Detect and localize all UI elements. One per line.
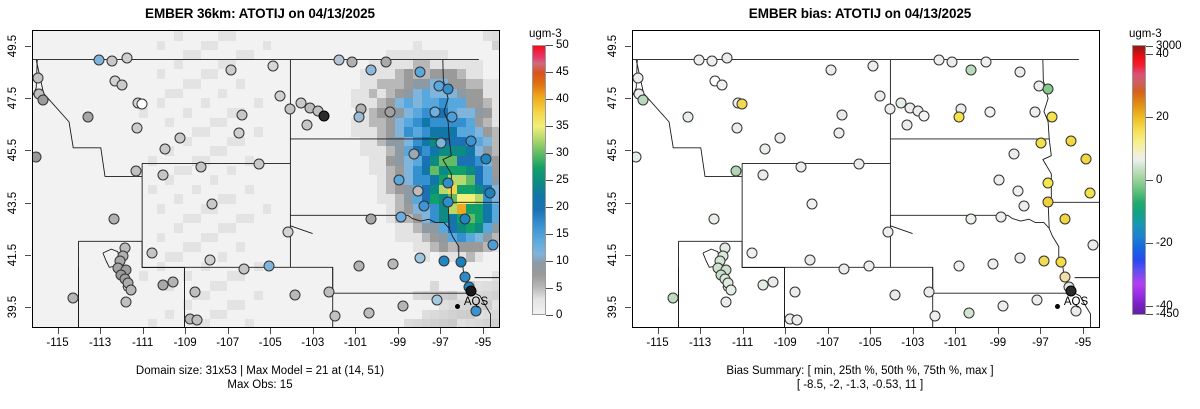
observation-site-marker[interactable]: [1013, 185, 1024, 196]
bias-footer-line1: Bias Summary: [ min, 25th %, 50th %, 75t…: [600, 364, 1120, 378]
observation-site-marker[interactable]: [398, 300, 409, 311]
x-axis-label: -101: [332, 337, 378, 349]
x-axis-tick: [743, 328, 744, 334]
colorbar-tick-label: 50: [556, 39, 569, 51]
observation-site-marker[interactable]: [1030, 107, 1041, 118]
bias-map-plot[interactable]: [632, 30, 1100, 328]
y-axis-label: 47.5: [7, 87, 19, 109]
observation-site-marker[interactable]: [919, 111, 930, 122]
state-border-path: [443, 60, 449, 139]
observation-site-marker[interactable]: [168, 276, 179, 287]
y-axis-tick: [25, 203, 31, 204]
observation-site-marker[interactable]: [236, 109, 247, 120]
observation-site-marker[interactable]: [466, 286, 477, 297]
observation-site-marker[interactable]: [1038, 256, 1049, 267]
colorbar-tick-label: 0: [556, 309, 562, 321]
model-footer-line1: Domain size: 31x53 | Max Model = 21 at (…: [0, 364, 520, 378]
y-axis-tick: [625, 46, 631, 47]
observation-site-marker[interactable]: [196, 161, 207, 172]
colorbar-gradient: [532, 45, 546, 315]
observation-site-marker[interactable]: [864, 261, 875, 272]
observation-site-marker[interactable]: [381, 57, 392, 68]
observation-site-marker[interactable]: [455, 257, 466, 268]
observation-site-marker[interactable]: [1036, 138, 1047, 149]
x-axis-tick: [955, 328, 956, 334]
observation-site-marker[interactable]: [725, 284, 736, 295]
observation-site-marker[interactable]: [83, 112, 94, 123]
colorbar-tick: [1146, 306, 1153, 307]
colorbar-tick: [546, 315, 553, 316]
observation-site-marker[interactable]: [157, 279, 168, 290]
y-axis-label: 43.5: [7, 191, 19, 213]
observation-site-marker[interactable]: [923, 287, 934, 298]
x-axis-tick: [870, 328, 871, 334]
observation-site-marker[interactable]: [1042, 83, 1053, 94]
observation-site-marker[interactable]: [334, 54, 345, 65]
observation-site-marker[interactable]: [432, 295, 443, 306]
panel-model: EMBER 36km: ATOTIJ on 04/13/2025 -115-11…: [0, 0, 600, 409]
observation-site-marker[interactable]: [481, 154, 492, 165]
observation-site-marker[interactable]: [442, 177, 453, 188]
observation-site-marker[interactable]: [1042, 177, 1053, 188]
colorbar-tick-label: 25: [556, 174, 569, 186]
observation-site-marker[interactable]: [693, 54, 704, 65]
colorbar-tick-label: 20: [556, 201, 569, 213]
observation-site-marker[interactable]: [330, 310, 341, 321]
colorbar-tick-label: 15: [556, 228, 569, 240]
observation-site-marker[interactable]: [868, 61, 879, 72]
colorbar-tick: [546, 261, 553, 262]
colorbar-tick: [1146, 46, 1153, 47]
colorbar-tick-label: 40: [556, 93, 569, 105]
colorbar-tick-label: -40: [1156, 300, 1173, 312]
observation-site-marker[interactable]: [234, 127, 245, 138]
x-axis-label: -107: [205, 337, 251, 349]
observation-site-marker[interactable]: [419, 201, 430, 212]
observation-site-marker[interactable]: [206, 198, 217, 209]
state-border-path: [290, 267, 474, 293]
observation-site-marker[interactable]: [131, 165, 142, 176]
observation-site-marker[interactable]: [413, 185, 424, 196]
observation-site-marker[interactable]: [1081, 154, 1092, 165]
x-axis-label: -95: [460, 337, 506, 349]
y-axis-tick: [625, 307, 631, 308]
observation-site-marker[interactable]: [964, 308, 975, 319]
x-axis-label: -111: [120, 337, 166, 349]
x-axis-tick: [270, 328, 271, 334]
observation-site-marker[interactable]: [853, 159, 864, 170]
x-axis-tick: [483, 328, 484, 334]
y-axis-label: 49.5: [7, 34, 19, 56]
colorbar-tick-label: 30: [556, 147, 569, 159]
observation-site-marker[interactable]: [834, 127, 845, 138]
aqs-legend-label: AQS: [1064, 296, 1088, 308]
observation-site-marker[interactable]: [189, 287, 200, 298]
x-axis-label: -105: [847, 337, 893, 349]
colorbar-tick-label: 5: [556, 282, 562, 294]
colorbar-tick: [546, 288, 553, 289]
observation-site-marker[interactable]: [934, 54, 945, 65]
colorbar-tick: [1146, 54, 1153, 55]
observation-site-marker[interactable]: [442, 83, 453, 94]
observation-site-marker[interactable]: [953, 261, 964, 272]
observation-site-marker[interactable]: [987, 258, 998, 269]
colorbar-unit-label: ugm-3: [1129, 28, 1162, 40]
observation-site-marker[interactable]: [264, 261, 275, 272]
y-axis-label: 45.5: [7, 139, 19, 161]
observation-site-marker[interactable]: [93, 54, 104, 65]
x-axis-label: -97: [417, 337, 463, 349]
observation-site-marker[interactable]: [947, 57, 958, 68]
observation-site-marker[interactable]: [415, 253, 426, 264]
colorbar-tick: [546, 126, 553, 127]
observation-site-marker[interactable]: [966, 65, 977, 76]
y-axis-label: 41.5: [607, 244, 619, 266]
observation-site-marker[interactable]: [883, 227, 894, 238]
colorbar-tick: [546, 99, 553, 100]
observation-site-marker[interactable]: [387, 258, 398, 269]
observation-site-marker[interactable]: [283, 227, 294, 238]
observation-site-marker[interactable]: [33, 73, 44, 84]
observation-site-marker[interactable]: [768, 276, 779, 287]
observation-site-marker[interactable]: [757, 279, 768, 290]
observation-site-marker[interactable]: [889, 290, 900, 301]
y-axis-tick: [25, 150, 31, 151]
colorbar-tick: [1146, 314, 1153, 315]
observation-site-marker[interactable]: [966, 214, 977, 225]
observation-site-marker[interactable]: [442, 197, 453, 208]
observation-site-marker[interactable]: [1042, 197, 1053, 208]
observation-site-marker[interactable]: [637, 95, 648, 106]
observation-site-marker[interactable]: [268, 61, 279, 72]
observation-site-marker[interactable]: [319, 111, 330, 122]
observation-site-marker[interactable]: [1015, 253, 1026, 264]
observation-site-marker[interactable]: [408, 148, 419, 159]
x-axis-tick: [185, 328, 186, 334]
observation-site-marker[interactable]: [385, 107, 396, 118]
x-axis-label: -109: [162, 337, 208, 349]
observation-site-marker[interactable]: [253, 159, 264, 170]
panel-bias: EMBER bias: ATOTIJ on 04/13/2025 -115-11…: [600, 0, 1200, 409]
observation-site-marker[interactable]: [708, 214, 719, 225]
y-axis-tick: [25, 307, 31, 308]
observation-site-marker[interactable]: [747, 248, 758, 259]
observation-site-marker[interactable]: [393, 175, 404, 186]
observation-site-marker[interactable]: [191, 314, 202, 325]
x-axis-tick: [58, 328, 59, 334]
observation-site-marker[interactable]: [1019, 201, 1030, 212]
observation-site-marker[interactable]: [721, 53, 732, 64]
observation-site-marker[interactable]: [874, 91, 885, 102]
observation-site-marker[interactable]: [757, 169, 768, 180]
colorbar-tick: [546, 72, 553, 73]
colorbar-tick: [546, 207, 553, 208]
observation-site-marker[interactable]: [436, 138, 447, 149]
x-axis-label: -99: [375, 337, 421, 349]
x-axis-label: -111: [720, 337, 766, 349]
x-axis-tick: [398, 328, 399, 334]
observation-site-marker[interactable]: [732, 122, 743, 133]
observation-site-marker[interactable]: [274, 91, 285, 102]
observation-site-marker[interactable]: [953, 112, 964, 123]
observation-site-marker[interactable]: [633, 73, 644, 84]
observation-site-marker[interactable]: [125, 284, 136, 295]
observation-site-marker[interactable]: [836, 109, 847, 120]
y-axis-tick: [25, 98, 31, 99]
observation-site-marker[interactable]: [1059, 214, 1070, 225]
x-axis-tick: [998, 328, 999, 334]
observation-site-marker[interactable]: [238, 263, 249, 274]
observation-site-marker[interactable]: [806, 198, 817, 209]
x-axis-tick: [313, 328, 314, 334]
x-axis-tick: [228, 328, 229, 334]
observation-site-marker[interactable]: [157, 169, 168, 180]
colorbar-tick-label: 35: [556, 120, 569, 132]
observation-site-marker[interactable]: [717, 79, 728, 90]
observation-site-marker[interactable]: [430, 107, 441, 118]
y-axis-tick: [625, 203, 631, 204]
observation-site-marker[interactable]: [796, 161, 807, 172]
y-axis-tick: [25, 46, 31, 47]
observation-site-marker[interactable]: [447, 112, 458, 123]
observation-site-marker[interactable]: [68, 292, 79, 303]
x-axis-label: -101: [932, 337, 978, 349]
observation-site-marker[interactable]: [37, 95, 48, 106]
observation-site-marker[interactable]: [174, 133, 185, 144]
x-axis-label: -113: [77, 337, 123, 349]
observation-site-marker[interactable]: [1066, 135, 1077, 146]
x-axis-label: -105: [247, 337, 293, 349]
x-axis-label: -107: [805, 337, 851, 349]
observation-site-marker[interactable]: [720, 296, 731, 307]
colorbar-tick-label: 45: [556, 66, 569, 78]
observation-site-marker[interactable]: [731, 165, 742, 176]
y-axis-label: 41.5: [7, 244, 19, 266]
observation-site-marker[interactable]: [108, 214, 119, 225]
x-axis-tick: [143, 328, 144, 334]
colorbar-tick-label: 20: [1156, 111, 1169, 123]
observation-site-marker[interactable]: [323, 287, 334, 298]
x-axis-label: -99: [975, 337, 1021, 349]
observation-site-marker[interactable]: [225, 65, 236, 76]
observation-site-marker[interactable]: [121, 53, 132, 64]
observation-site-marker[interactable]: [204, 254, 215, 265]
observation-site-marker[interactable]: [159, 143, 170, 154]
x-axis-tick: [700, 328, 701, 334]
observation-site-marker[interactable]: [302, 120, 313, 131]
observation-site-marker[interactable]: [289, 290, 300, 301]
observation-site-marker[interactable]: [438, 256, 449, 267]
model-map-plot[interactable]: [32, 30, 500, 328]
bias-footer-line2: [ -8.5, -2, -1.3, -0.53, 11 ]: [600, 378, 1120, 392]
observation-site-marker[interactable]: [117, 79, 128, 90]
y-axis-tick: [625, 150, 631, 151]
observation-site-marker[interactable]: [459, 271, 470, 282]
observation-site-marker[interactable]: [1015, 66, 1026, 77]
x-axis-label: -103: [890, 337, 936, 349]
observation-site-marker[interactable]: [804, 254, 815, 265]
colorbar-tick: [546, 234, 553, 235]
observation-site-marker[interactable]: [132, 122, 143, 133]
x-axis-label: -95: [1060, 337, 1106, 349]
observation-site-marker[interactable]: [485, 188, 496, 199]
observation-site-marker[interactable]: [466, 135, 477, 146]
x-axis-tick: [913, 328, 914, 334]
observation-site-marker[interactable]: [1032, 295, 1043, 306]
state-boundaries: [633, 31, 1099, 327]
y-axis-tick: [25, 255, 31, 256]
colorbar-tick: [1146, 117, 1153, 118]
observation-site-marker[interactable]: [353, 112, 364, 123]
x-axis-tick: [785, 328, 786, 334]
colorbar-tick: [1146, 180, 1153, 181]
y-axis-label: 39.5: [7, 296, 19, 318]
observation-site-marker[interactable]: [487, 240, 498, 251]
observation-site-marker[interactable]: [668, 292, 679, 303]
observation-site-marker[interactable]: [683, 112, 694, 123]
x-axis-tick: [100, 328, 101, 334]
observation-site-marker[interactable]: [364, 308, 375, 319]
observation-site-marker[interactable]: [366, 65, 377, 76]
state-border-path: [1043, 60, 1049, 139]
y-axis-label: 47.5: [607, 87, 619, 109]
state-border-path: [890, 267, 1074, 293]
observation-site-marker[interactable]: [996, 211, 1007, 222]
y-axis-tick: [625, 98, 631, 99]
observation-site-marker[interactable]: [396, 211, 407, 222]
panel-model-title: EMBER 36km: ATOTIJ on 04/13/2025: [0, 6, 520, 21]
panel-bias-title: EMBER bias: ATOTIJ on 04/13/2025: [600, 6, 1120, 21]
observation-site-marker[interactable]: [353, 261, 364, 272]
observation-site-marker[interactable]: [147, 248, 158, 259]
colorbar-tick-label: 10: [556, 255, 569, 267]
x-axis-tick: [355, 328, 356, 334]
observation-site-marker[interactable]: [106, 56, 117, 67]
observation-site-marker[interactable]: [459, 214, 470, 225]
state-border-path: [1043, 139, 1051, 202]
observation-site-marker[interactable]: [930, 310, 941, 321]
observation-site-marker[interactable]: [998, 300, 1009, 311]
state-border-path: [443, 139, 451, 202]
observation-site-marker[interactable]: [285, 104, 296, 115]
y-axis-label: 45.5: [607, 139, 619, 161]
observation-site-marker[interactable]: [1066, 286, 1077, 297]
x-axis-label: -115: [35, 337, 81, 349]
state-boundaries: [33, 31, 499, 327]
x-axis-tick: [440, 328, 441, 334]
x-axis-tick: [828, 328, 829, 334]
observation-site-marker[interactable]: [789, 287, 800, 298]
observation-site-marker[interactable]: [1008, 148, 1019, 159]
colorbar-tick: [546, 45, 553, 46]
observation-site-marker[interactable]: [366, 214, 377, 225]
observation-site-marker[interactable]: [774, 133, 785, 144]
observation-site-marker[interactable]: [825, 65, 836, 76]
observation-site-marker[interactable]: [759, 143, 770, 154]
x-axis-label: -97: [1017, 337, 1063, 349]
x-axis-label: -109: [762, 337, 808, 349]
x-axis-label: -113: [677, 337, 723, 349]
y-axis-label: 49.5: [607, 34, 619, 56]
colorbar-gradient: [1132, 45, 1146, 315]
colorbar-tick: [546, 180, 553, 181]
observation-site-marker[interactable]: [1055, 257, 1066, 268]
colorbar-tick-label: 3000: [1156, 40, 1182, 52]
x-axis-label: -103: [290, 337, 336, 349]
observation-site-marker[interactable]: [902, 120, 913, 131]
observation-site-marker[interactable]: [736, 99, 747, 110]
observation-site-marker[interactable]: [1059, 271, 1070, 282]
observation-site-marker[interactable]: [1047, 112, 1058, 123]
model-footer-line2: Max Obs: 15: [0, 378, 520, 392]
colorbar-tick: [546, 153, 553, 154]
observation-site-marker[interactable]: [136, 99, 147, 110]
y-axis-label: 43.5: [607, 191, 619, 213]
colorbar-tick-label: -20: [1156, 237, 1173, 249]
y-axis-tick: [625, 255, 631, 256]
observation-site-marker[interactable]: [347, 57, 358, 68]
x-axis-tick: [1083, 328, 1084, 334]
aqs-legend-label: AQS: [464, 296, 488, 308]
observation-site-marker[interactable]: [1085, 188, 1096, 199]
observation-site-marker[interactable]: [1087, 240, 1098, 251]
x-axis-tick: [1040, 328, 1041, 334]
colorbar-tick: [1146, 243, 1153, 244]
observation-site-marker[interactable]: [838, 263, 849, 274]
observation-site-marker[interactable]: [985, 107, 996, 118]
observation-site-marker[interactable]: [791, 314, 802, 325]
x-axis-label: -115: [635, 337, 681, 349]
observation-site-marker[interactable]: [415, 66, 426, 77]
observation-site-marker[interactable]: [120, 296, 131, 307]
observation-site-marker[interactable]: [885, 104, 896, 115]
observation-site-marker[interactable]: [993, 175, 1004, 186]
observation-site-marker[interactable]: [981, 57, 992, 68]
y-axis-label: 39.5: [607, 296, 619, 318]
colorbar-tick-label: 0: [1156, 174, 1162, 186]
observation-site-marker[interactable]: [706, 56, 717, 67]
x-axis-tick: [658, 328, 659, 334]
